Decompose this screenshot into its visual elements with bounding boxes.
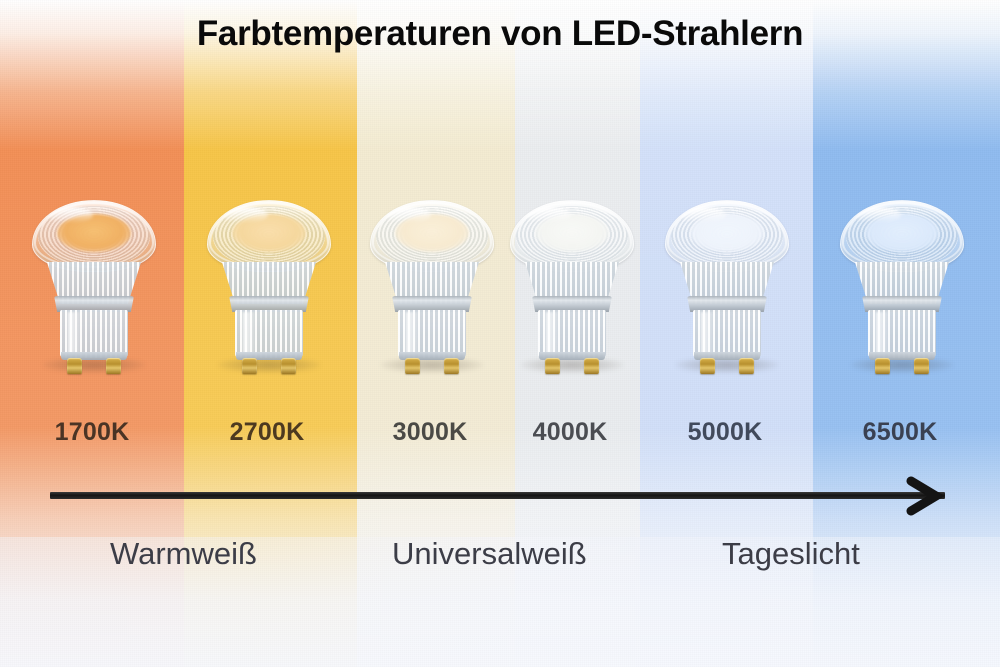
category-label-0: Warmweiß — [110, 536, 257, 572]
category-label-row: WarmweißUniversalweißTageslicht — [0, 0, 1000, 667]
category-label-1: Universalweiß — [392, 536, 587, 572]
category-label-2: Tageslicht — [722, 536, 860, 572]
infographic-canvas: Farbtemperaturen von LED-Strahlern 1700K… — [0, 0, 1000, 667]
page-title: Farbtemperaturen von LED-Strahlern — [0, 14, 1000, 54]
